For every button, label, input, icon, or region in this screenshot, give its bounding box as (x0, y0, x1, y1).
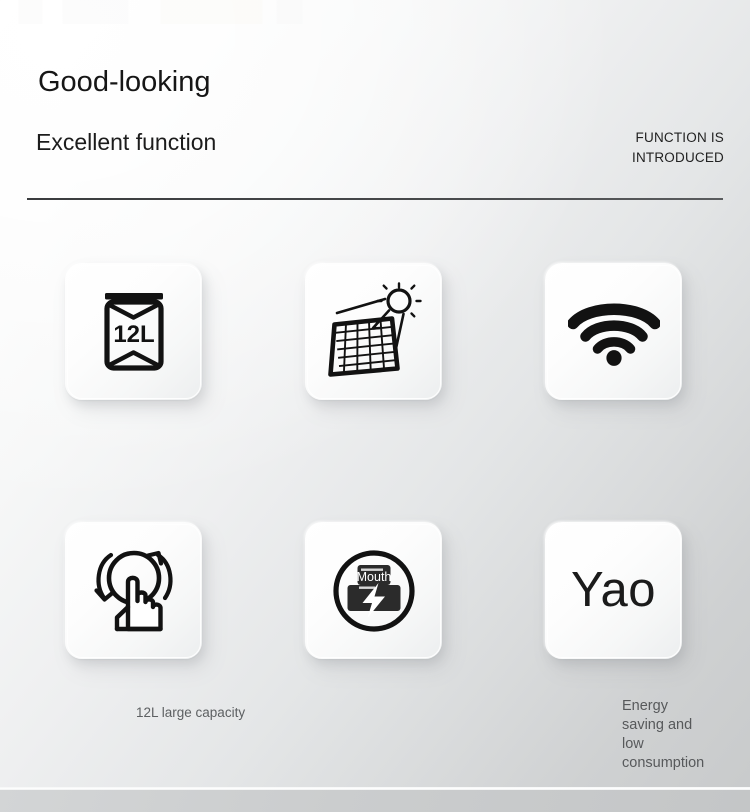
battery-mouth-label: Mouth (356, 570, 391, 584)
feature-item-energy-saving[interactable]: Energy saving and low consumption (305, 263, 505, 400)
feature-item-intelligent-induction[interactable]: Intelligent in- duction (545, 263, 745, 400)
feature-caption: Energy saving and low consumption (622, 697, 704, 774)
solar-panel-sun-icon (305, 263, 442, 400)
bottom-band (0, 790, 750, 812)
container-12l-icon: 12L (65, 263, 202, 400)
container-capacity-label: 12L (113, 321, 154, 348)
feature-card[interactable]: Mouth (305, 522, 442, 659)
wifi-signal-icon (545, 263, 682, 400)
yao-text-icon: Yao (545, 522, 682, 659)
feature-introduction-page: Good-looking Excellent function FUNCTION… (0, 0, 750, 812)
feature-item-mute-slow-down[interactable]: Yao Mute slow down (545, 522, 745, 659)
feature-card[interactable] (545, 263, 682, 400)
feature-card[interactable] (65, 522, 202, 659)
lithium-battery-charging-icon: Mouth (305, 522, 442, 659)
feature-item-capacity[interactable]: 12L 12L large capacity (65, 263, 265, 400)
feature-item-touch-switch[interactable]: Touch switch (65, 522, 265, 659)
feature-item-battery-charging[interactable]: Mouth Lithium battery charging (305, 522, 505, 659)
feature-card[interactable]: Yao (545, 522, 682, 659)
touch-hand-gesture-icon (65, 522, 202, 659)
feature-grid: 12L 12L large capacity (0, 0, 750, 812)
yao-label: Yao (571, 566, 656, 615)
feature-card[interactable]: 12L (65, 263, 202, 400)
feature-caption: 12L large capacity (136, 704, 245, 722)
feature-card[interactable] (305, 263, 442, 400)
